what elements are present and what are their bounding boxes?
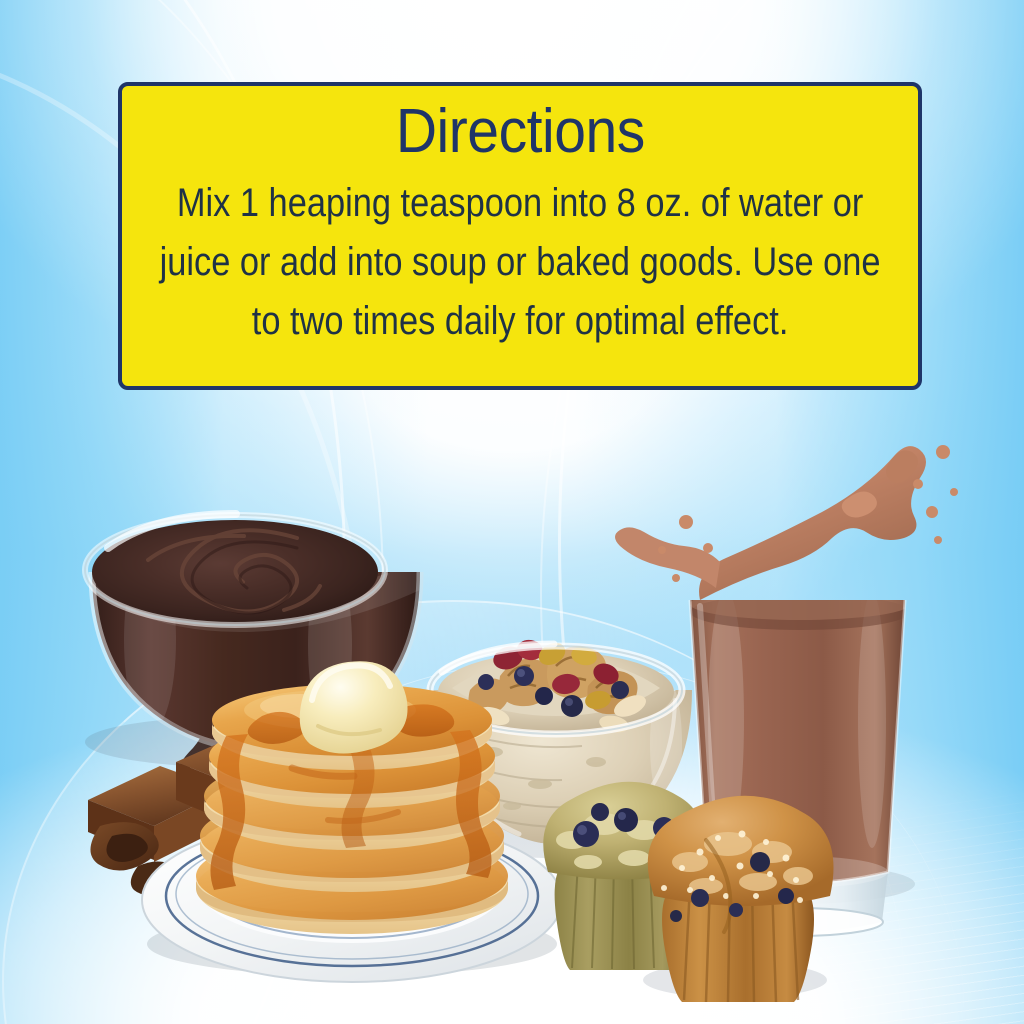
directions-text: Mix 1 heaping teaspoon into 8 oz. of wat… bbox=[150, 174, 890, 351]
blueberry-muffin-front bbox=[648, 796, 834, 1002]
milk-splash bbox=[615, 445, 958, 600]
poster-canvas: Directions Mix 1 heaping teaspoon into 8… bbox=[0, 0, 1024, 1024]
page-title: Directions bbox=[395, 96, 644, 168]
directions-panel: Directions Mix 1 heaping teaspoon into 8… bbox=[118, 82, 922, 390]
